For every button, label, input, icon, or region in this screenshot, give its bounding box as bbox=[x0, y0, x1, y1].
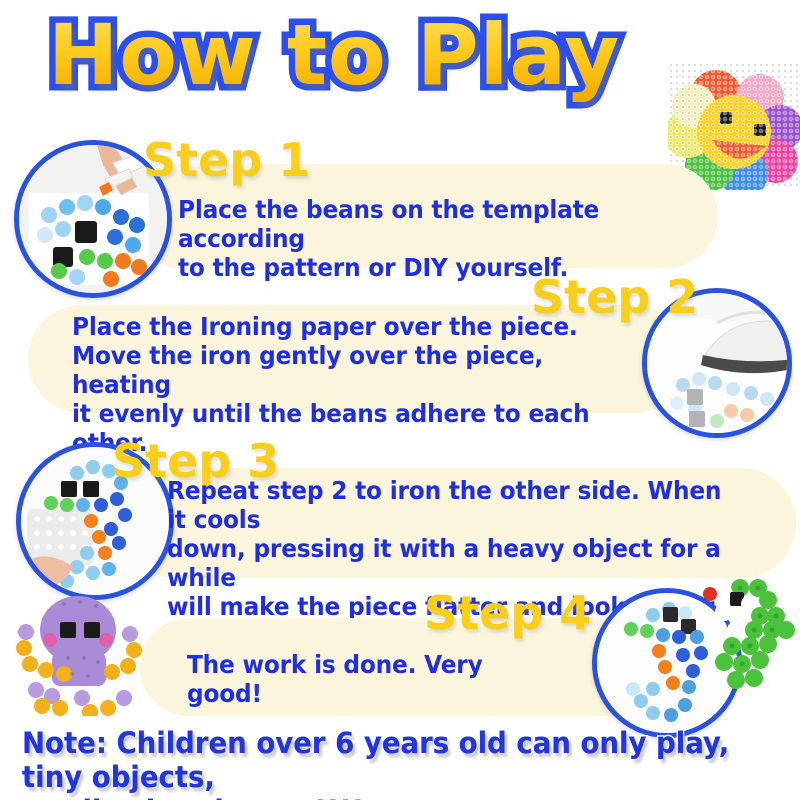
poster-root: How to Play How to Play bbox=[0, 0, 800, 800]
safety-note: Note: Children over 6 years old can only… bbox=[22, 726, 754, 800]
step-4-text: The work is done. Very good! bbox=[187, 650, 559, 708]
step-4-label: Step 4 bbox=[424, 586, 591, 640]
purple-octopus-bead-art bbox=[12, 586, 158, 716]
green-parrot-bead-art bbox=[694, 566, 798, 706]
step-1-label: Step 1 bbox=[143, 133, 310, 187]
step-1-text: Place the beans on the template accordin… bbox=[178, 195, 680, 282]
page-title: How to Play bbox=[48, 6, 620, 104]
